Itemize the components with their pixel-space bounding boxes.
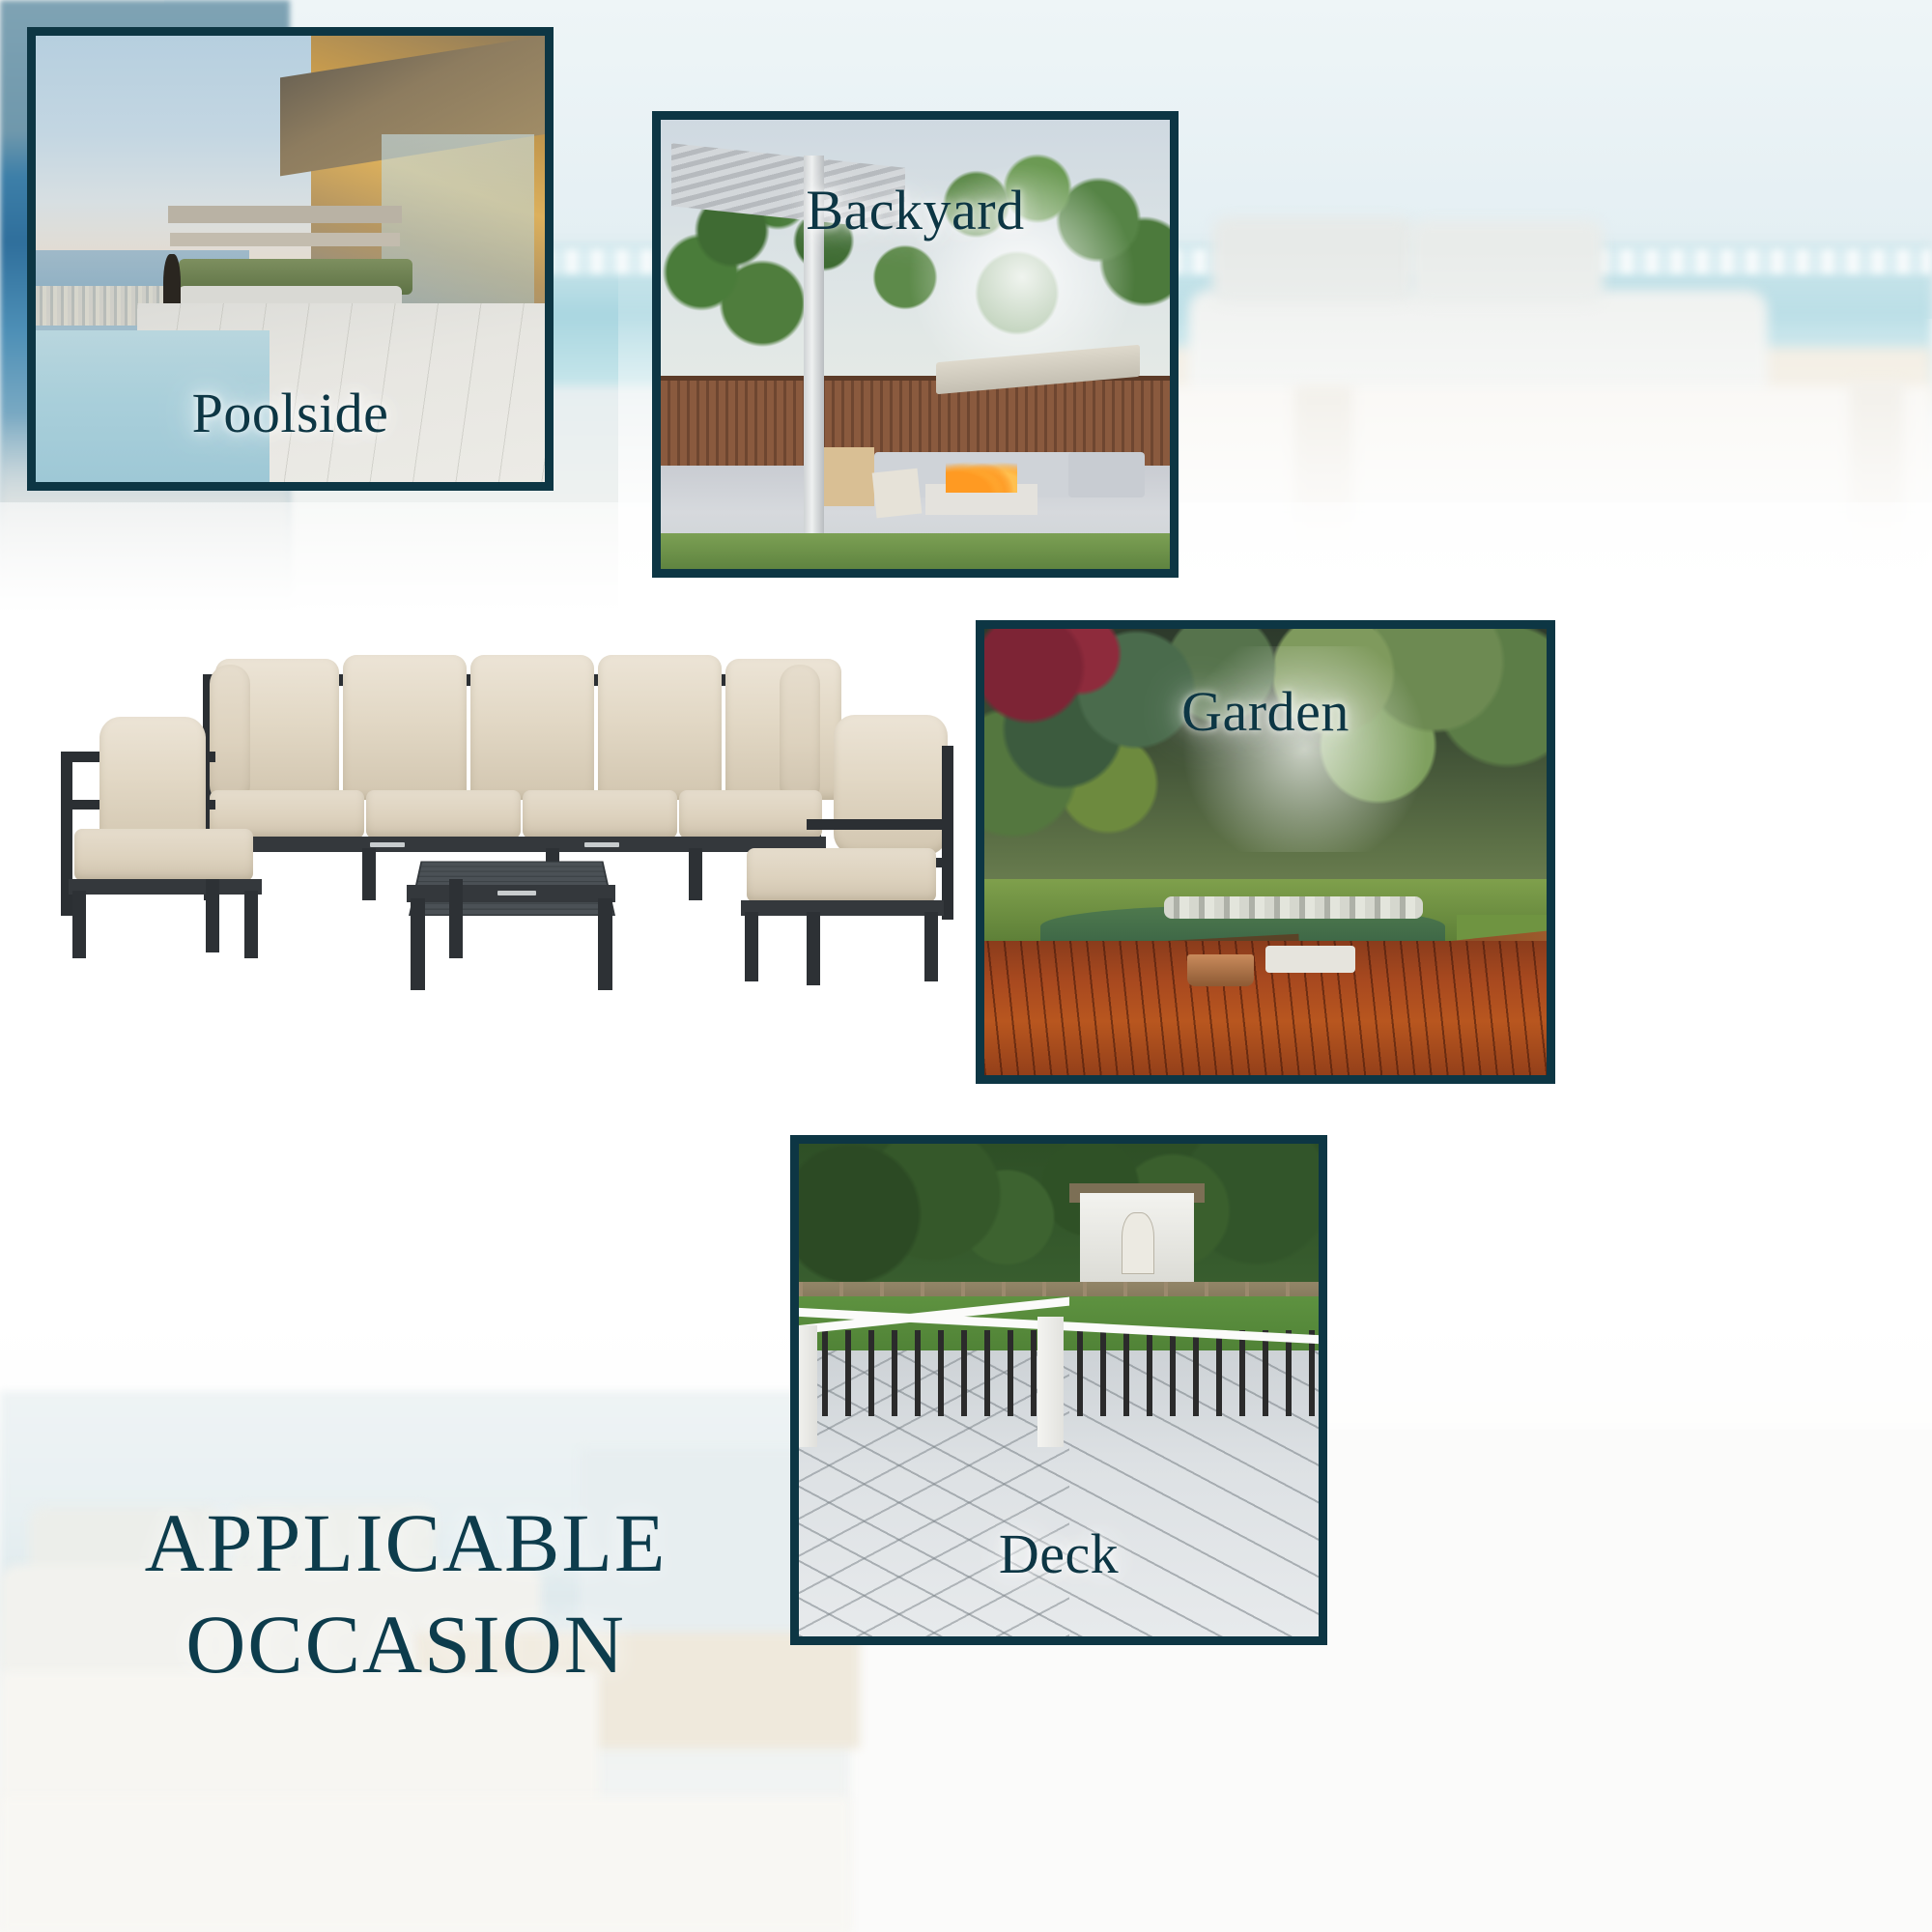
poolside-pergola xyxy=(168,206,402,223)
sofa-back-cushion xyxy=(470,655,594,800)
coffee-table-leg xyxy=(411,898,425,990)
garden-pond-rocks xyxy=(1164,896,1423,919)
occasion-card-backyard[interactable]: Backyard xyxy=(652,111,1179,578)
armchair-left-leg xyxy=(244,891,258,958)
coffee-table-leg xyxy=(449,879,463,958)
deck-corner-post xyxy=(1037,1317,1064,1447)
armchair-left-base xyxy=(69,879,262,895)
armchair-right-back-cushion xyxy=(834,715,948,855)
headline: APPLICABLE OCCASION xyxy=(58,1492,753,1695)
armchair-right-leg xyxy=(745,912,758,981)
armchair-right-arm-rail xyxy=(807,819,953,830)
backyard-grass xyxy=(661,533,1170,569)
occasion-card-label: Garden xyxy=(984,679,1547,744)
sofa-arm-bolster-left xyxy=(210,665,250,805)
occasion-card-label: Deck xyxy=(799,1521,1319,1586)
coffee-table-leg xyxy=(598,898,612,990)
headline-line-2: OCCASION xyxy=(58,1594,753,1695)
deck-railing xyxy=(799,1321,1319,1430)
armchair-right-seat-cushion xyxy=(747,848,936,902)
sofa-leg xyxy=(362,848,376,900)
armchair-left-leg xyxy=(206,879,219,952)
sofa-brand-badge xyxy=(584,842,619,847)
backyard-flames xyxy=(946,457,1017,493)
armchair-right-leg xyxy=(807,912,820,985)
sofa-seat-cushion xyxy=(366,790,521,838)
occasion-card-label: Backyard xyxy=(661,178,1170,242)
sofa-seat-cushion xyxy=(679,790,822,838)
sofa-base-frame xyxy=(200,837,826,852)
armchair-left-seat-cushion xyxy=(74,829,253,881)
coffee-table-brand-badge xyxy=(497,891,536,895)
headline-line-1: APPLICABLE xyxy=(145,1496,668,1589)
deck-shed-door xyxy=(1122,1212,1154,1273)
sofa-back-cushion xyxy=(343,655,467,800)
background-bottom-floor xyxy=(0,1797,850,1932)
armchair-right-back-post xyxy=(942,746,953,920)
armchair-left-leg xyxy=(72,891,86,958)
backyard-sofa-right xyxy=(1068,452,1145,497)
marketing-banner: Poolside Backyard xyxy=(0,0,1932,1932)
occasion-card-deck[interactable]: Deck xyxy=(790,1135,1327,1645)
product-sofa-set[interactable] xyxy=(43,638,971,1043)
armchair-right-leg xyxy=(924,912,938,981)
deck-left-post xyxy=(799,1325,817,1447)
occasion-card-poolside[interactable]: Poolside xyxy=(27,27,554,491)
sofa-back-cushion xyxy=(598,655,722,800)
garden-lounger xyxy=(1265,946,1355,973)
sofa-brand-badge xyxy=(370,842,405,847)
sofa-seat-cushion xyxy=(523,790,677,838)
garden-light-haze xyxy=(1164,646,1445,852)
occasion-card-label: Poolside xyxy=(36,381,545,445)
garden-flower-pots xyxy=(1187,954,1255,985)
occasion-card-garden[interactable]: Garden xyxy=(976,620,1555,1084)
backyard-armchair xyxy=(872,468,923,517)
armchair-right-base xyxy=(741,900,944,916)
sofa-arm-bolster-right xyxy=(780,665,820,805)
sofa-leg xyxy=(689,848,702,900)
